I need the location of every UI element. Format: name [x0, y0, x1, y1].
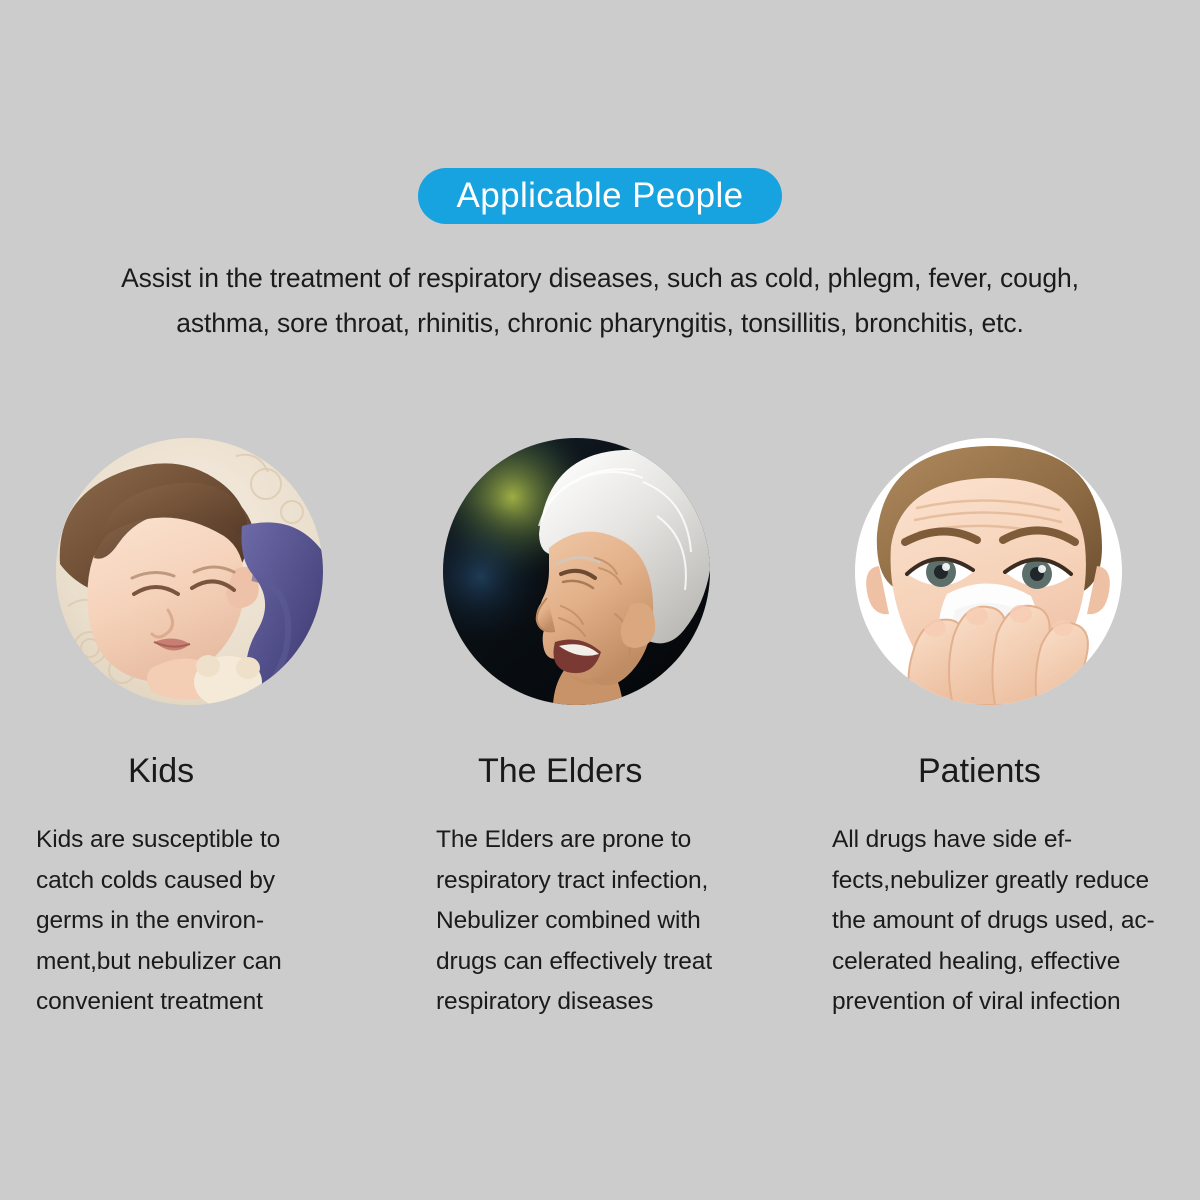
intro-line-2: asthma, sore throat, rhinitis, chronic p… — [80, 301, 1120, 346]
body-line: drugs can effectively treat — [436, 942, 766, 983]
page-title-badge: Applicable People — [418, 168, 781, 224]
body-line: celerated healing, effective — [832, 942, 1182, 983]
applicable-people-page: Applicable People Assist in the treatmen… — [0, 0, 1200, 1200]
body-line: Nebulizer combined with — [436, 901, 766, 942]
page-title-container: Applicable People — [0, 168, 1200, 224]
elderly-woman-photo — [443, 438, 710, 705]
body-line: convenient treatment — [36, 982, 336, 1023]
audience-body-kids: Kids are susceptible to catch colds caus… — [36, 820, 336, 1023]
body-line: fects,nebulizer greatly reduce — [832, 861, 1182, 902]
audience-columns: Kids Kids are susceptible to catch colds… — [0, 438, 1200, 1038]
woman-blowing-nose-photo — [855, 438, 1122, 705]
body-line: All drugs have side ef- — [832, 820, 1182, 861]
body-line: germs in the environ- — [36, 901, 336, 942]
body-line: ment,but nebulizer can — [36, 942, 336, 983]
body-line: respiratory diseases — [436, 982, 766, 1023]
body-line: The Elders are prone to — [436, 820, 766, 861]
intro-paragraph: Assist in the treatment of respiratory d… — [80, 256, 1120, 346]
audience-body-patients: All drugs have side ef- fects,nebulizer … — [832, 820, 1182, 1023]
audience-caption-patients: Patients — [918, 750, 1041, 792]
audience-caption-elders: The Elders — [478, 750, 642, 792]
body-line: the amount of drugs used, ac- — [832, 901, 1182, 942]
audience-caption-kids: Kids — [128, 750, 194, 792]
sleeping-child-photo — [56, 438, 323, 705]
intro-line-1: Assist in the treatment of respiratory d… — [80, 256, 1120, 301]
body-line: respiratory tract infection, — [436, 861, 766, 902]
body-line: prevention of viral infection — [832, 982, 1182, 1023]
audience-body-elders: The Elders are prone to respiratory trac… — [436, 820, 766, 1023]
body-line: catch colds caused by — [36, 861, 336, 902]
body-line: Kids are susceptible to — [36, 820, 336, 861]
